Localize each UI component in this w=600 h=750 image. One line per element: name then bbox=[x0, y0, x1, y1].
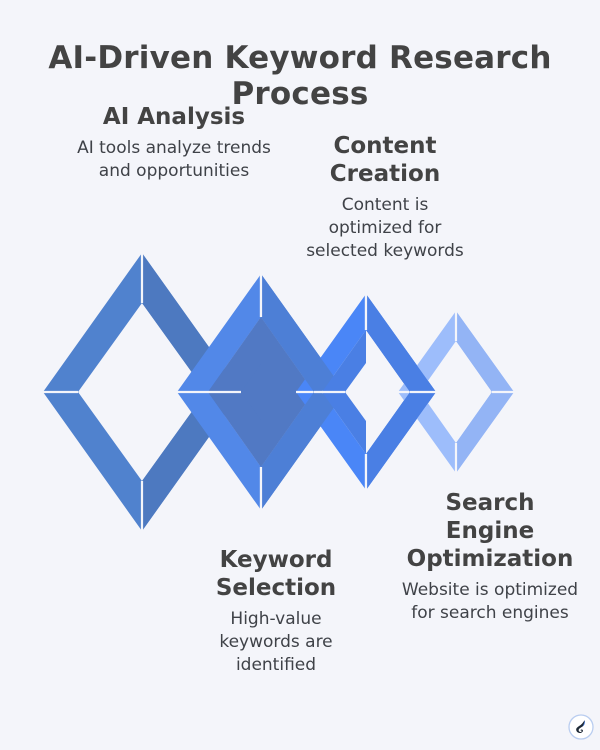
step-search-engine-optimization-description: Website is optimized for search engines bbox=[398, 579, 582, 625]
page-title: AI-Driven Keyword Research Process bbox=[0, 40, 600, 112]
chain-link-4-facet-top-right bbox=[456, 311, 514, 392]
step-content-creation-title: Content Creation bbox=[300, 132, 470, 188]
step-content-creation-description: Content is optimized for selected keywor… bbox=[300, 194, 470, 263]
step-ai-analysis-description: AI tools analyze trends and opportunitie… bbox=[74, 137, 274, 183]
step-keyword-selection-description: High-value keywords are identified bbox=[190, 608, 362, 677]
step-ai-analysis-title: AI Analysis bbox=[74, 103, 274, 131]
step-content-creation: Content Creation Content is optimized fo… bbox=[300, 132, 470, 263]
chain-link-4-facet-bottom-right bbox=[456, 392, 514, 473]
step-search-engine-optimization: Search Engine Optimization Website is op… bbox=[398, 489, 582, 625]
step-keyword-selection: Keyword Selection High-value keywords ar… bbox=[190, 546, 362, 677]
step-search-engine-optimization-title: Search Engine Optimization bbox=[398, 489, 582, 573]
infographic-canvas: AI-Driven Keyword Research Process bbox=[0, 0, 600, 750]
step-keyword-selection-title: Keyword Selection bbox=[190, 546, 362, 602]
brand-watermark-icon bbox=[568, 714, 594, 740]
step-ai-analysis: AI Analysis AI tools analyze trends and … bbox=[74, 103, 274, 183]
